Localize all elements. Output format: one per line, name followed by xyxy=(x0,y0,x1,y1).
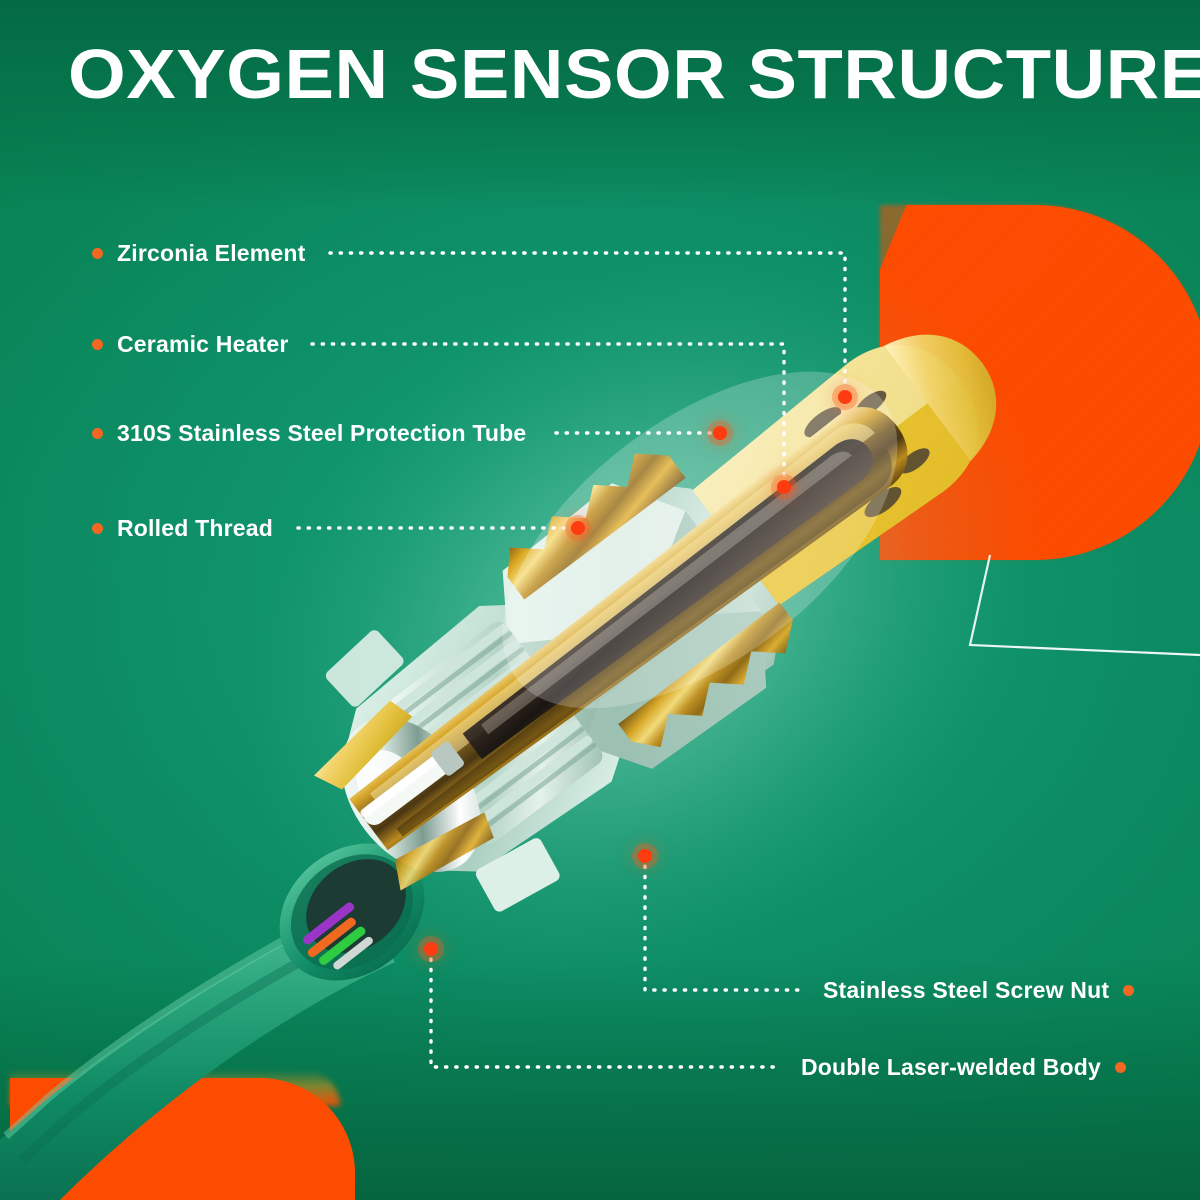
bullet-dot-icon xyxy=(92,339,103,350)
leader-node-ceramic-heater xyxy=(777,480,791,494)
callout-protection-tube: 310S Stainless Steel Protection Tube xyxy=(92,419,526,447)
callout-welded-body: Double Laser-welded Body xyxy=(801,1053,1126,1081)
callout-label: 310S Stainless Steel Protection Tube xyxy=(117,419,526,447)
callout-label: Stainless Steel Screw Nut xyxy=(823,976,1109,1004)
callout-label: Ceramic Heater xyxy=(117,330,289,358)
callout-label: Double Laser-welded Body xyxy=(801,1053,1101,1081)
leader-node-protection-tube xyxy=(713,426,727,440)
callout-label: Zirconia Element xyxy=(117,239,306,267)
bullet-dot-icon xyxy=(92,428,103,439)
callout-zirconia-element: Zirconia Element xyxy=(92,239,306,267)
bullet-dot-icon xyxy=(92,248,103,259)
bullet-dot-icon xyxy=(1115,1062,1126,1073)
orange-accent-right-glow xyxy=(880,205,1200,560)
callout-rolled-thread: Rolled Thread xyxy=(92,514,273,542)
callout-label: Rolled Thread xyxy=(117,514,273,542)
page-title: OXYGEN SENSOR STRUCTURE xyxy=(68,36,1200,112)
callout-screw-nut: Stainless Steel Screw Nut xyxy=(823,976,1134,1004)
infographic-canvas: OXYGEN SENSOR STRUCTURE Zirconia Element… xyxy=(0,0,1200,1200)
bullet-dot-icon xyxy=(92,523,103,534)
orange-accent-bottom xyxy=(10,1078,355,1200)
bullet-dot-icon xyxy=(1123,985,1134,996)
leader-node-welded-body xyxy=(424,942,438,956)
leader-node-rolled-thread xyxy=(571,521,585,535)
leader-node-zirconia xyxy=(838,390,852,404)
callout-ceramic-heater: Ceramic Heater xyxy=(92,330,289,358)
leader-node-screw-nut xyxy=(638,849,652,863)
